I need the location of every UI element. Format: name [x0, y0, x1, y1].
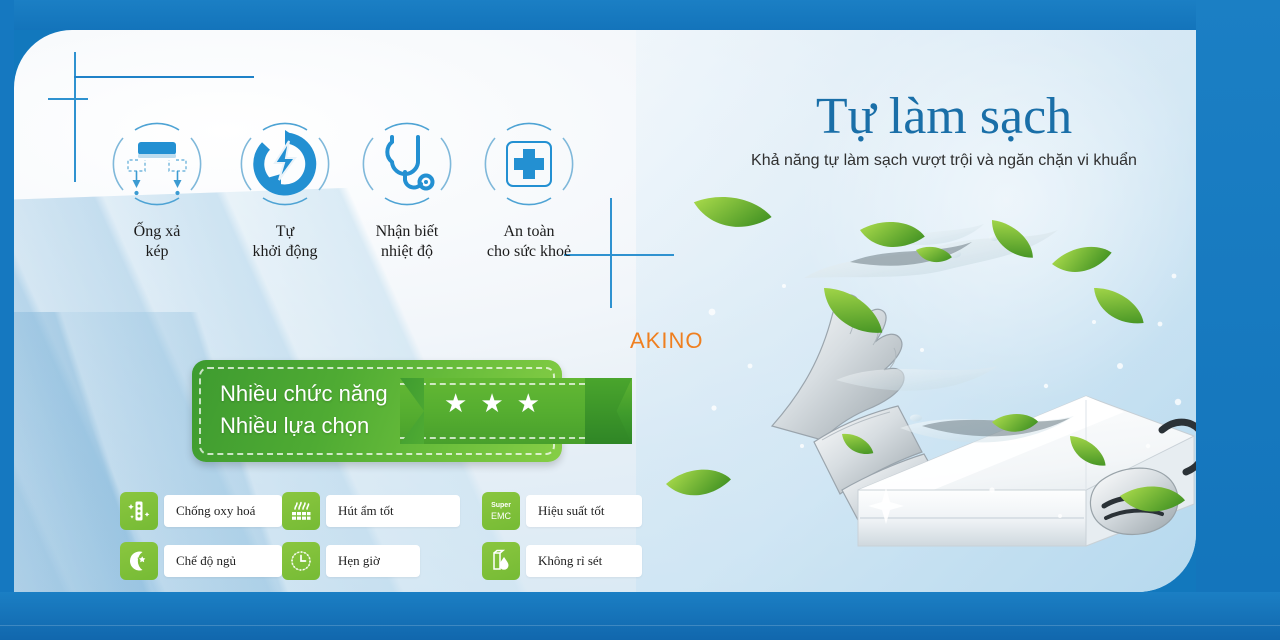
air-conditioner-unit — [858, 396, 1194, 546]
feature-item-an-toan-cho-suc-khoe[interactable]: An toàn cho sức khoẻ — [464, 116, 594, 262]
page-title: Tự làm sạch — [714, 88, 1174, 146]
hero-illustration — [654, 190, 1196, 590]
water-splash-dark — [850, 242, 1070, 436]
feature-label: Tự khởi động — [220, 222, 350, 262]
robotic-gripping-hand — [1090, 422, 1196, 534]
pill-label: Chế độ ngủ — [164, 545, 282, 577]
feature-item-ong-xa-kep[interactable]: Ống xả kép — [92, 116, 222, 262]
feature-label: Nhận biết nhiệt độ — [342, 222, 472, 262]
feature-pill-grid: Chống oxy hoá — [120, 492, 650, 592]
decor-rule-top — [74, 76, 254, 78]
badge-bottom-text: EMC — [491, 511, 511, 521]
pill-label: Hút ẩm tốt — [326, 495, 460, 527]
feature-label: An toàn cho sức khoẻ — [464, 222, 594, 262]
feature-item-nhan-biet-nhiet-do[interactable]: Nhận biết nhiệt độ — [342, 116, 472, 262]
content-canvas: Ống xả kép Tự khởi động — [14, 30, 1196, 592]
feature-icon-row: Ống xả kép Tự khởi động — [92, 116, 612, 286]
promo-banner: Ống xả kép Tự khởi động — [0, 0, 1280, 640]
medical-cross-icon — [481, 116, 577, 212]
star-icon: ★ — [444, 390, 467, 416]
pill-row: Chế độ ngủ Hẹn giờ — [120, 542, 650, 580]
badge-top-text: Super — [491, 501, 511, 511]
anti-oxidation-icon — [120, 492, 158, 530]
green-leaves — [665, 190, 1186, 520]
frame-bottom-bar — [0, 592, 1280, 640]
page-subtitle: Khả năng tự làm sạch vượt trội và ngăn c… — [714, 150, 1174, 172]
star-icon: ★ — [480, 390, 503, 416]
frame-top-bar — [0, 0, 1280, 30]
anti-rust-droplet-icon — [482, 542, 520, 580]
feature-label: Ống xả kép — [92, 222, 222, 262]
pill-label: Hiệu suất tốt — [526, 495, 642, 527]
super-emc-icon: Super EMC — [482, 492, 520, 530]
brand-wordmark: AKINO — [630, 328, 703, 354]
pill-chong-oxy-hoa[interactable]: Chống oxy hoá — [120, 492, 282, 530]
ac-unit-dual-drain-icon — [109, 116, 205, 212]
pill-row: Chống oxy hoá — [120, 492, 650, 530]
pill-khong-ri-set[interactable]: Không rỉ sét — [482, 542, 642, 580]
dehumidify-icon — [282, 492, 320, 530]
right-glow — [796, 30, 1196, 410]
sparkle-icon — [868, 488, 904, 524]
frame-right-bar — [1196, 0, 1280, 640]
timer-clock-icon — [282, 542, 320, 580]
decor-cross-top-left — [48, 52, 88, 182]
robotic-arm — [772, 295, 942, 520]
pill-hut-am-tot[interactable]: Hút ẩm tốt — [282, 492, 482, 530]
stethoscope-icon — [359, 116, 455, 212]
star-icon: ★ — [517, 390, 540, 416]
bubbles — [709, 274, 1182, 518]
ribbon-text: Nhiều chức năng Nhiều lựa chọn — [220, 378, 388, 442]
frame-left-bar — [0, 0, 14, 640]
super-emc-badge: Super EMC — [491, 501, 511, 521]
pill-hen-gio[interactable]: Hẹn giờ — [282, 542, 482, 580]
pill-label: Hẹn giờ — [326, 545, 420, 577]
headline-block: Tự làm sạch Khả năng tự làm sạch vượt tr… — [714, 88, 1174, 172]
sleep-mode-moon-icon — [120, 542, 158, 580]
water-splash — [804, 224, 1074, 442]
feature-item-tu-khoi-dong[interactable]: Tự khởi động — [220, 116, 350, 262]
ribbon-stars: ★ ★ ★ — [444, 390, 540, 416]
auto-restart-icon — [237, 116, 333, 212]
green-ribbon-banner: Nhiều chức năng Nhiều lựa chọn ★ ★ ★ — [192, 360, 632, 470]
pill-label: Chống oxy hoá — [164, 495, 282, 527]
pill-hieu-suat-tot[interactable]: Super EMC Hiệu suất tốt — [482, 492, 642, 530]
pill-che-do-ngu[interactable]: Chế độ ngủ — [120, 542, 282, 580]
pill-label: Không rỉ sét — [526, 545, 642, 577]
